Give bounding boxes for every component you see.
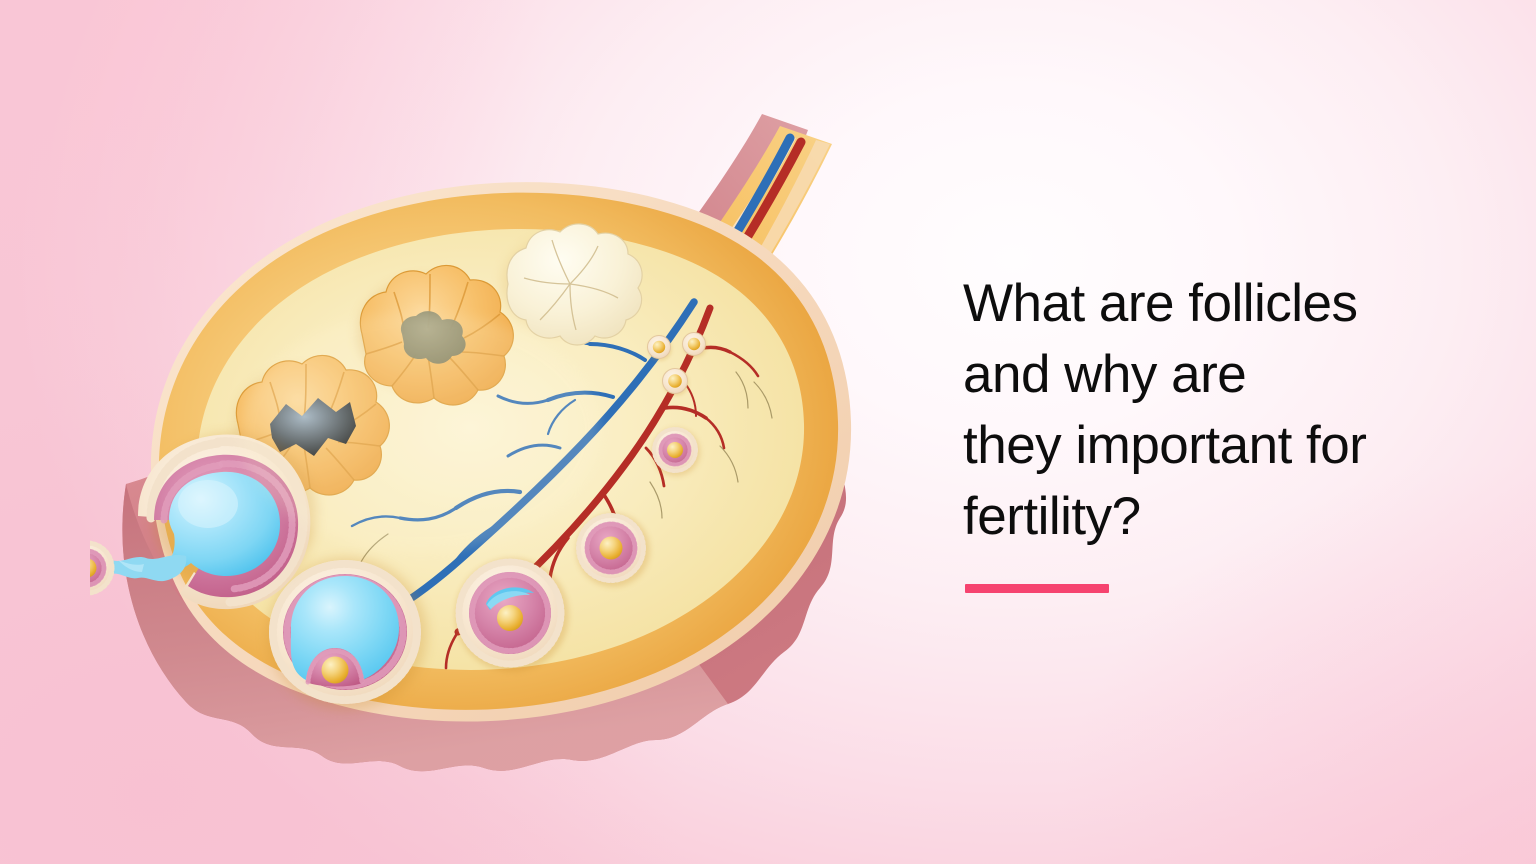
headline-line-4: fertility? (963, 481, 1493, 552)
headline-line-3: they important for (963, 410, 1493, 481)
medulla-highlight (240, 312, 600, 552)
primary-follicle-large (576, 513, 650, 587)
secondary-follicle (455, 558, 569, 672)
ovary-cross-section-diagram (90, 52, 900, 812)
accent-underline (965, 584, 1109, 593)
headline-line-2: and why are (963, 339, 1493, 410)
primary-follicle-small (652, 428, 700, 476)
page-title: What are follicles and why are they impo… (963, 268, 1493, 552)
slide-canvas: What are follicles and why are they impo… (0, 0, 1536, 864)
headline-line-1: What are follicles (963, 268, 1493, 339)
antral-follicle (267, 558, 427, 710)
